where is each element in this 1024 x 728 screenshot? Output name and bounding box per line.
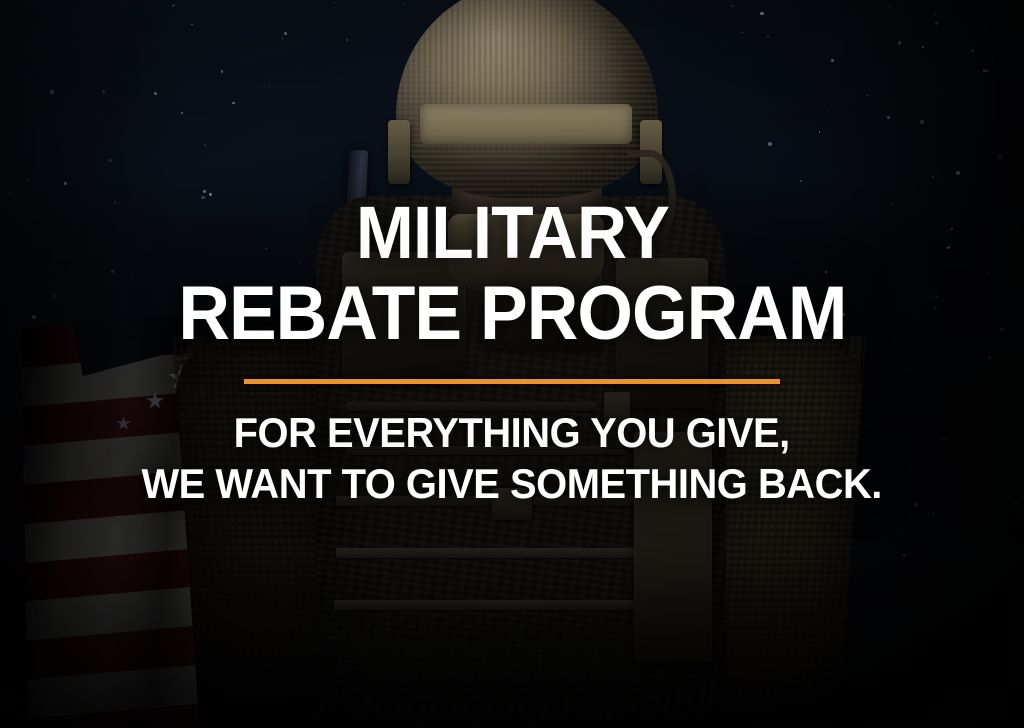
headline-line-2: REBATE PROGRAM [178,278,846,349]
military-rebate-banner: MILITARY REBATE PROGRAM FOR EVERYTHING Y… [0,0,1024,728]
banner-content: MILITARY REBATE PROGRAM FOR EVERYTHING Y… [0,0,1024,728]
subheadline-line-2: WE WANT TO GIVE SOMETHING BACK. [142,461,882,506]
banner-headline: MILITARY REBATE PROGRAM [178,0,846,349]
banner-subheadline: FOR EVERYTHING YOU GIVE, WE WANT TO GIVE… [142,410,882,507]
subheadline-line-1: FOR EVERYTHING YOU GIVE, [142,410,882,455]
headline-line-1: MILITARY [178,198,846,268]
orange-divider [244,379,780,384]
